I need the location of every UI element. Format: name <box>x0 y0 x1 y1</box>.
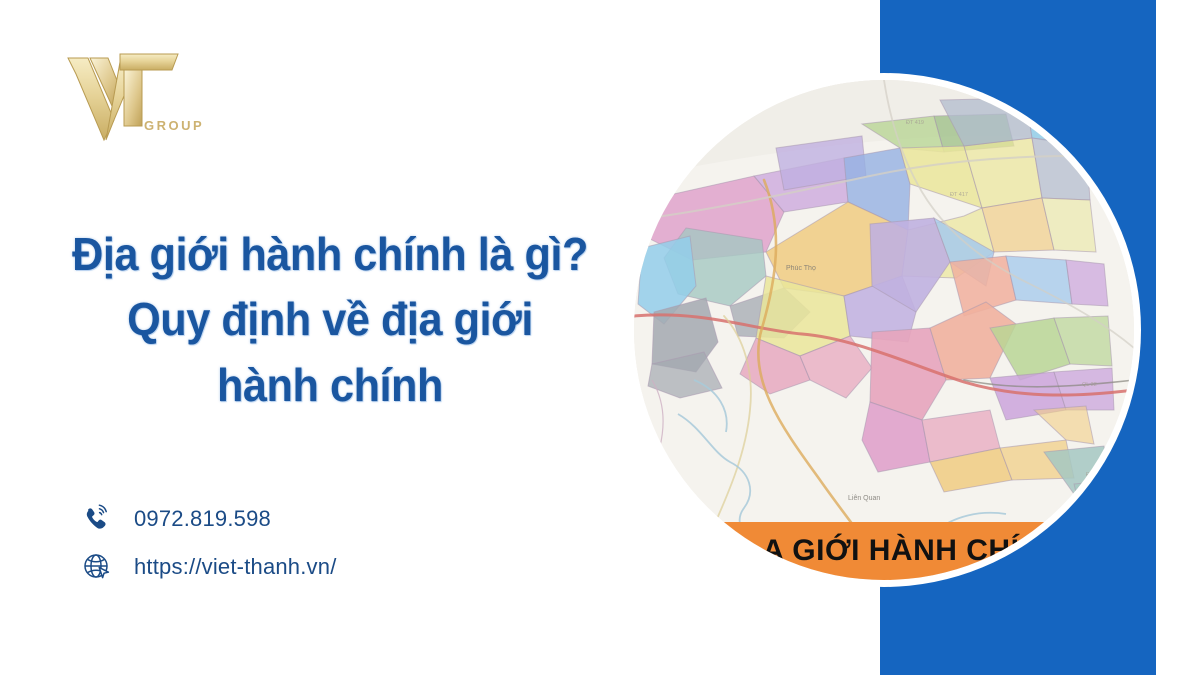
poster-canvas: Phúc Thọ Liên Quan ĐT 419 ĐT 417 ĐH 419 … <box>0 0 1200 675</box>
phone-icon <box>80 502 114 536</box>
headline-line-3: hành chính <box>57 353 602 418</box>
map-banner: A GIỚI HÀNH CHÍN <box>634 522 1134 580</box>
headline-line-1: Địa giới hành chính là gì? <box>57 222 602 287</box>
contact-block: 0972.819.598 https://viet-thanh.vn/ <box>80 498 337 588</box>
website-url: https://viet-thanh.vn/ <box>134 554 337 580</box>
page-title: Địa giới hành chính là gì? Quy định về đ… <box>40 222 620 418</box>
administrative-map-circle: Phúc Thọ Liên Quan ĐT 419 ĐT 417 ĐH 419 … <box>634 80 1134 580</box>
vt-group-logo: GROUP <box>62 48 202 143</box>
logo-wordmark: GROUP <box>144 118 202 133</box>
contact-website[interactable]: https://viet-thanh.vn/ <box>80 546 337 588</box>
headline-line-2: Quy định về địa giới <box>57 287 602 352</box>
contact-phone[interactable]: 0972.819.598 <box>80 498 337 540</box>
phone-number: 0972.819.598 <box>134 506 271 532</box>
map-banner-text: A GIỚI HÀNH CHÍN <box>762 534 1041 568</box>
globe-cursor-icon <box>80 550 114 584</box>
